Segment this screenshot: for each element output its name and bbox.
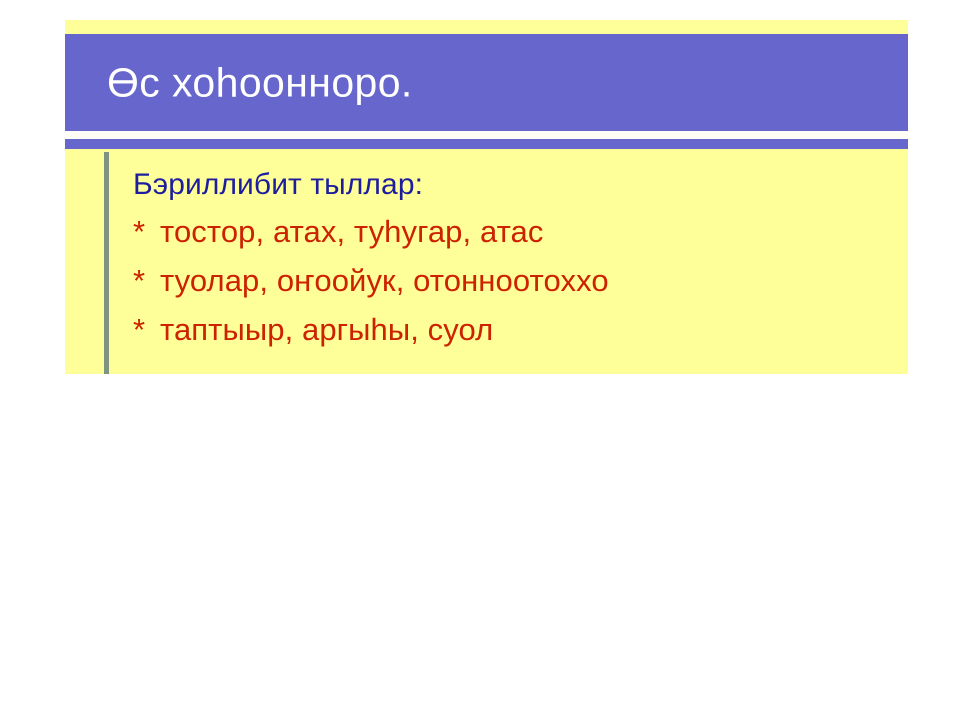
- slide-title: Өс хоһоонноро.: [107, 61, 413, 104]
- bullet-marker-icon: *: [133, 314, 160, 345]
- title-band-gap: [65, 131, 908, 139]
- bullet-item: * таптыыр, аргыһы, суол: [133, 314, 903, 345]
- bullet-text: туолар, оҥоойук, отонноотоххо: [160, 265, 609, 296]
- bullet-text: таптыыр, аргыһы, суол: [160, 314, 493, 345]
- bullet-marker-icon: *: [133, 216, 160, 247]
- body-lead-text: Бэриллибит тыллар:: [133, 170, 903, 200]
- slide-content-area: Бэриллибит тыллар: * тостор, атах, туһуг…: [65, 149, 908, 374]
- bullet-marker-icon: *: [133, 265, 160, 296]
- bullet-item: * туолар, оҥоойук, отонноотоххо: [133, 265, 903, 296]
- bullet-item: * тостор, атах, туһугар, атас: [133, 216, 903, 247]
- content-left-rule: [104, 152, 109, 374]
- presentation-slide: Өс хоһоонноро. Бэриллибит тыллар: * тост…: [65, 20, 908, 374]
- slide-title-band: Өс хоһоонноро.: [65, 34, 908, 131]
- bullet-text: тостор, атах, туһугар, атас: [160, 216, 544, 247]
- slide-body: Бэриллибит тыллар: * тостор, атах, туһуг…: [133, 170, 903, 345]
- title-accent-strip: [65, 139, 908, 149]
